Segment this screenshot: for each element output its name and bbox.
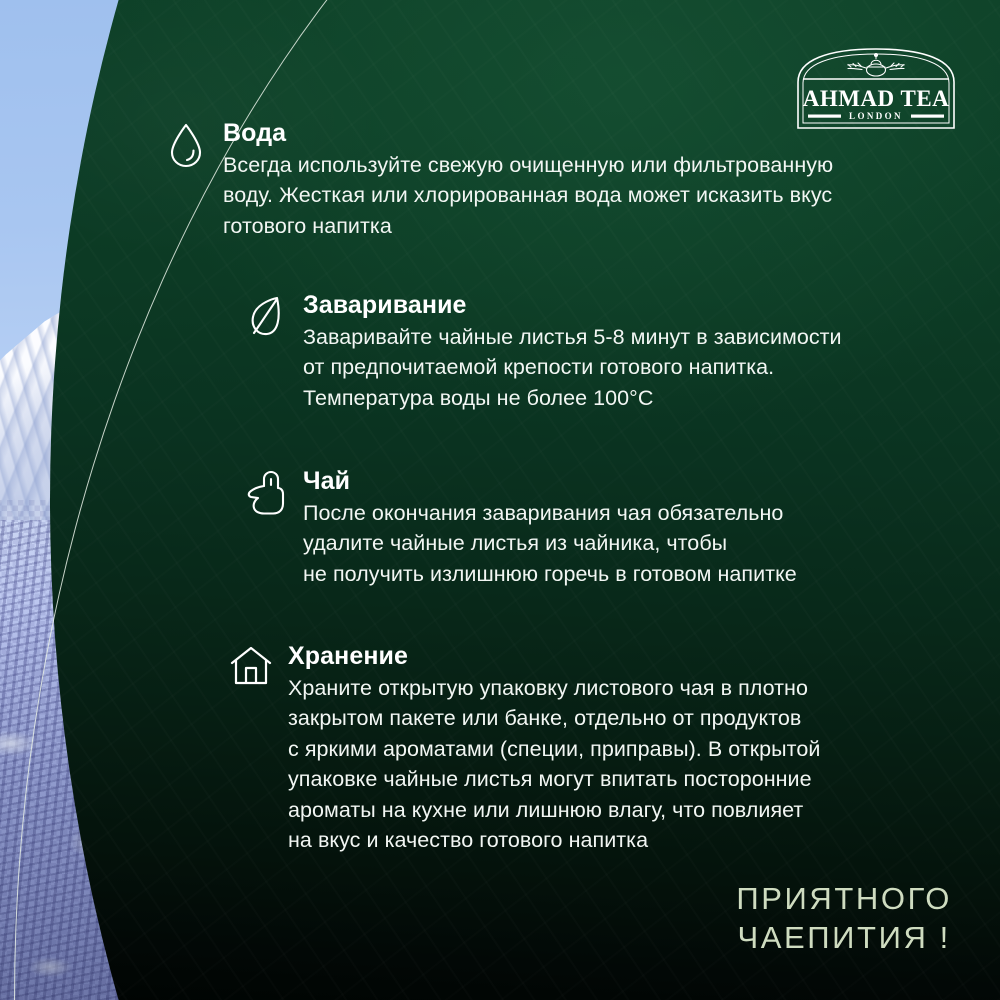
water-drop-icon [163,120,209,170]
tip-text-brewing: Заваривайте чайные листья 5-8 минут в за… [303,322,973,414]
tip-body-water: Вода Всегда используйте свежую очищенную… [223,120,963,241]
closing-greeting: ПРИЯТНОГО ЧАЕПИТИЯ ! [736,879,952,958]
hand-plucking-icon [243,468,289,518]
tip-section-tea: Чай После окончания заваривания чая обяз… [243,468,973,589]
tip-body-tea: Чай После окончания заваривания чая обяз… [303,468,973,589]
house-icon [228,643,274,693]
leaf-icon [243,292,289,342]
tip-title-water: Вода [223,120,963,147]
tip-section-water: Вода Всегда используйте свежую очищенную… [163,120,963,241]
tea-brewing-tips-poster: AHMAD TEA LONDON Вода Всегда используйте… [0,0,1000,1000]
tip-title-brewing: Заваривание [303,292,973,319]
tip-title-tea: Чай [303,468,973,495]
tips-content: Вода Всегда используйте свежую очищенную… [0,0,1000,1000]
tip-text-water: Всегда используйте свежую очищенную или … [223,150,963,242]
tip-text-tea: После окончания заваривания чая обязател… [303,498,973,590]
tip-title-storage: Хранение [288,643,968,670]
tip-body-storage: Хранение Храните открытую упаковку листо… [288,643,968,856]
tip-text-storage: Храните открытую упаковку листового чая … [288,673,968,856]
tip-body-brewing: Заваривание Заваривайте чайные листья 5-… [303,292,973,413]
tip-section-storage: Хранение Храните открытую упаковку листо… [228,643,968,856]
tip-section-brewing: Заваривание Заваривайте чайные листья 5-… [243,292,973,413]
